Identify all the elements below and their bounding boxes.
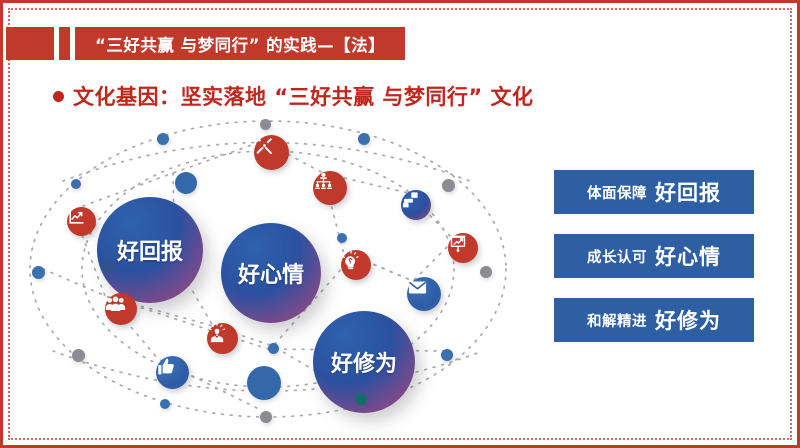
value-box-value: 好回报 [655,177,721,207]
banner-title-text: “三好共赢 与梦同行” 的实践—【法】 [75,27,405,60]
thumbs-up-icon[interactable] [156,356,189,389]
value-box-value: 好心情 [655,241,721,271]
banner-left-block [6,27,54,60]
presentation-chart-icon[interactable] [448,233,478,263]
value-box-value: 好修为 [655,305,721,335]
value-box-haoxiuwei[interactable]: 和解精进 好修为 [554,298,754,342]
decor-dot [260,119,271,130]
career-steps-icon[interactable] [401,190,431,220]
envelope-icon[interactable] [407,277,441,311]
network-diagram: 好回报 好心情 好修为 [23,111,543,441]
idea-person-icon[interactable] [207,323,238,354]
decor-dot [160,399,170,409]
decor-dot [157,133,169,145]
bullet-icon [53,91,64,102]
line-chart-icon[interactable] [67,207,96,236]
group-people-icon[interactable] [105,293,137,325]
slide-canvas: “三好共赢 与梦同行” 的实践—【法】 文化基因：坚实落地 “三好共赢 与梦同行… [0,0,800,448]
value-box-prefix: 和解精进 [587,310,647,331]
decor-dot [337,233,347,243]
big-node-haoxinqing[interactable]: 好心情 [221,223,321,323]
big-node-haohuibao[interactable]: 好回报 [97,197,203,303]
decor-dot [480,266,492,278]
section-heading: 文化基因：坚实落地 “三好共赢 与梦同行” 文化 [53,81,534,111]
title-banner: “三好共赢 与梦同行” 的实践—【法】 [6,27,405,60]
banner-accent-bar [59,27,70,60]
decor-dot [71,179,81,189]
decor-dot [175,172,197,194]
decor-dot [355,393,367,405]
tools-icon[interactable] [254,135,289,170]
big-node-label: 好修为 [331,346,397,378]
value-box-prefix: 体面保障 [587,182,647,203]
value-box-prefix: 成长认可 [587,246,647,267]
value-boxes-list: 体面保障 好回报 成长认可 好心情 和解精进 好修为 [554,170,754,342]
big-node-label: 好回报 [117,234,183,266]
decor-dot [442,179,455,192]
decor-dot [102,261,114,273]
decor-dot [268,343,279,354]
value-box-haoxinqing[interactable]: 成长认可 好心情 [554,234,754,278]
big-node-label: 好心情 [238,257,304,289]
decor-dot [260,411,272,423]
section-heading-text: 文化基因：坚实落地 “三好共赢 与梦同行” 文化 [73,81,534,111]
decor-dot [32,266,45,279]
value-box-haohuibao[interactable]: 体面保障 好回报 [554,170,754,214]
decor-dot [441,349,453,361]
thinking-head-icon[interactable] [341,250,371,280]
org-chart-icon[interactable] [313,171,347,205]
decor-dot [72,349,85,362]
decor-dot [247,366,281,400]
decor-dot [358,133,370,145]
